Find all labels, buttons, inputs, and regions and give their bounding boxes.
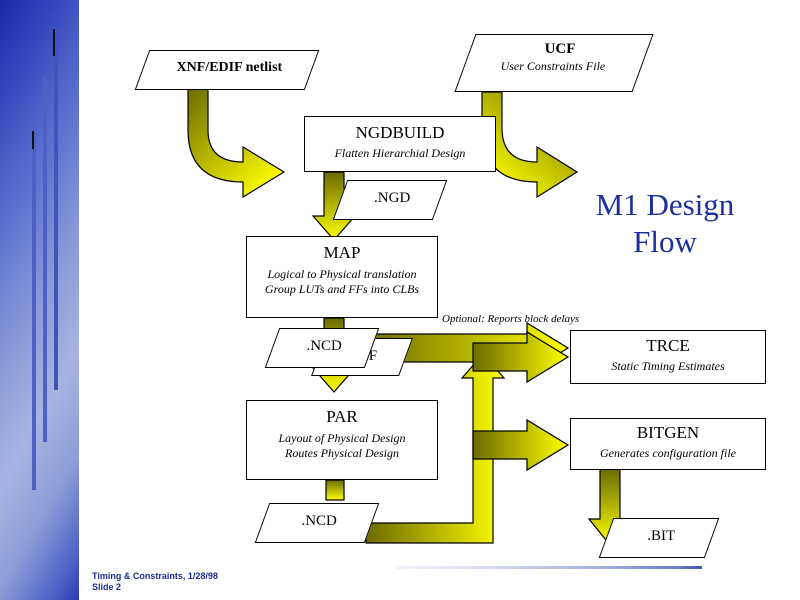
shape-xnf-edif-netlist[interactable]: XNF/EDIF netlist — [135, 50, 320, 90]
label-bitgen-subtitle: Generates configuration file — [571, 443, 765, 461]
page-title: M1 Design Flow — [540, 186, 790, 260]
label-ucf-subtitle: User Constraints File — [465, 58, 641, 74]
box-par[interactable]: PAR Layout of Physical Design Routes Phy… — [246, 400, 438, 480]
label-map-ncd-file: .NCD — [275, 329, 373, 355]
label-bit-file: .BIT — [609, 519, 713, 545]
arrow-netlist-to-ngdbuild — [188, 88, 284, 197]
label-par-title: PAR — [247, 401, 437, 427]
arrow-ucf-to-ngdbuild — [482, 92, 577, 197]
shape-par-ncd-file[interactable]: .NCD — [255, 503, 380, 543]
label-xnf-edif-netlist: XNF/EDIF netlist — [145, 51, 313, 76]
label-par-ncd-file: .NCD — [265, 504, 373, 530]
label-par-subtitle-2: Routes Physical Design — [247, 446, 437, 461]
box-ngdbuild[interactable]: NGDBUILD Flatten Hierarchial Design — [304, 116, 496, 172]
label-ucf-title: UCF — [472, 35, 648, 58]
label-ngdbuild-title: NGDBUILD — [305, 117, 495, 143]
shape-map-ncd-file[interactable]: .NCD — [265, 328, 380, 368]
label-par-subtitle-1: Layout of Physical Design — [247, 427, 437, 446]
label-ngdbuild-subtitle: Flatten Hierarchial Design — [305, 143, 495, 161]
label-map-subtitle-1: Logical to Physical translation — [247, 263, 437, 282]
shape-bit-file[interactable]: .BIT — [599, 518, 720, 558]
arrow-par-to-ncd — [326, 480, 344, 500]
label-bitgen-title: BITGEN — [571, 419, 765, 443]
label-map-subtitle-2: Group LUTs and FFs into CLBs — [247, 282, 437, 297]
box-map[interactable]: MAP Logical to Physical translation Grou… — [246, 236, 438, 318]
box-trce[interactable]: TRCE Static Timing Estimates — [570, 330, 766, 384]
label-map-title: MAP — [247, 237, 437, 263]
label-optional-note: Optional: Reports block delays — [442, 313, 579, 325]
label-trce-title: TRCE — [571, 331, 765, 356]
label-trce-subtitle: Static Timing Estimates — [571, 356, 765, 374]
shape-ucf[interactable]: UCF User Constraints File — [454, 34, 653, 92]
shape-ngd-file[interactable]: .NGD — [333, 180, 448, 220]
slide-canvas: XNF/EDIF netlist UCF User Constraints Fi… — [0, 0, 800, 600]
label-ngd-file: .NGD — [343, 181, 441, 207]
box-bitgen[interactable]: BITGEN Generates configuration file — [570, 418, 766, 470]
